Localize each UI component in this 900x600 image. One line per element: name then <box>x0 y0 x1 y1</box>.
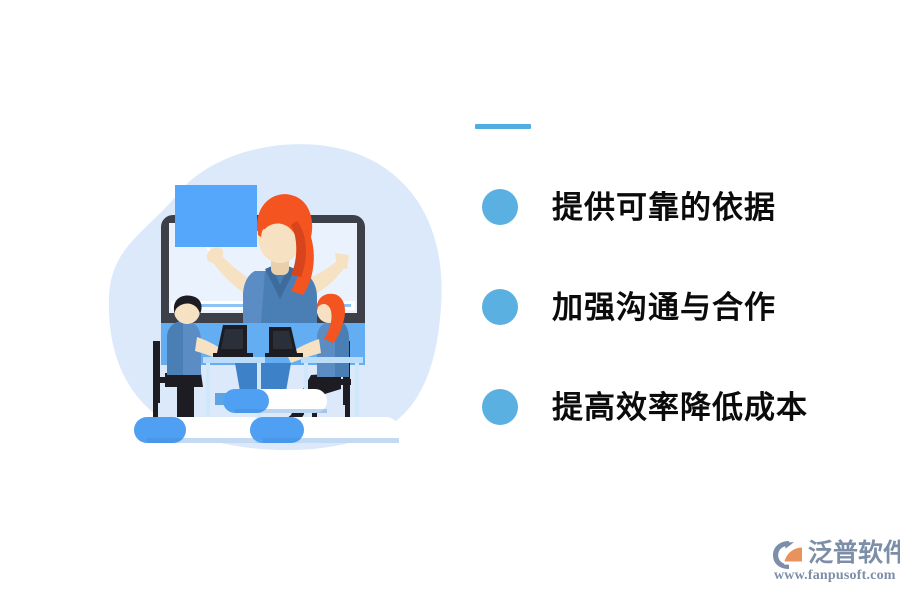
online-classroom-illustration <box>105 135 450 460</box>
bullet-dot-icon <box>482 389 518 425</box>
bullet-label: 提高效率降低成本 <box>552 392 808 423</box>
right-laptop-base <box>265 353 303 357</box>
brand-name: 泛普软件 <box>808 538 900 568</box>
bullet-item: 提高效率降低成本 <box>470 380 890 434</box>
brand-logo: 泛普软件 www.fanpusoft.com <box>772 538 894 586</box>
book-lower-right <box>250 417 399 443</box>
accent-rule <box>475 124 531 129</box>
bullet-panel: 提供可靠的依据 加强沟通与合作 提高效率降低成本 <box>470 112 890 432</box>
right-desk-leg-right <box>355 363 359 425</box>
logo-sliver <box>784 563 802 565</box>
bullet-dot-icon <box>482 189 518 225</box>
right-desk-top <box>301 357 363 363</box>
left-desk-leg-left <box>206 363 210 423</box>
fanpusoft-logo-mark-icon <box>772 540 806 570</box>
bullet-label: 提供可靠的依据 <box>552 192 776 223</box>
left-desk-top <box>203 357 265 363</box>
bullet-dot-icon <box>482 289 518 325</box>
book-lower-left <box>134 417 265 443</box>
illustration-svg <box>105 135 450 460</box>
presentation-slide <box>175 185 257 247</box>
left-student-torso-shade <box>167 321 183 375</box>
brand-url: www.fanpusoft.com <box>774 568 896 584</box>
book-upper <box>223 389 327 413</box>
logo-inner-arc <box>785 548 803 562</box>
bullet-item: 提供可靠的依据 <box>470 180 890 234</box>
left-chair-leg-back <box>153 381 158 421</box>
left-laptop-base <box>213 353 253 357</box>
bullet-label: 加强沟通与合作 <box>552 292 776 323</box>
bullet-item: 加强沟通与合作 <box>470 280 890 334</box>
teacher-right-hand <box>335 253 349 269</box>
logo-mark-svg <box>772 540 806 570</box>
logo-wedge <box>785 542 794 548</box>
